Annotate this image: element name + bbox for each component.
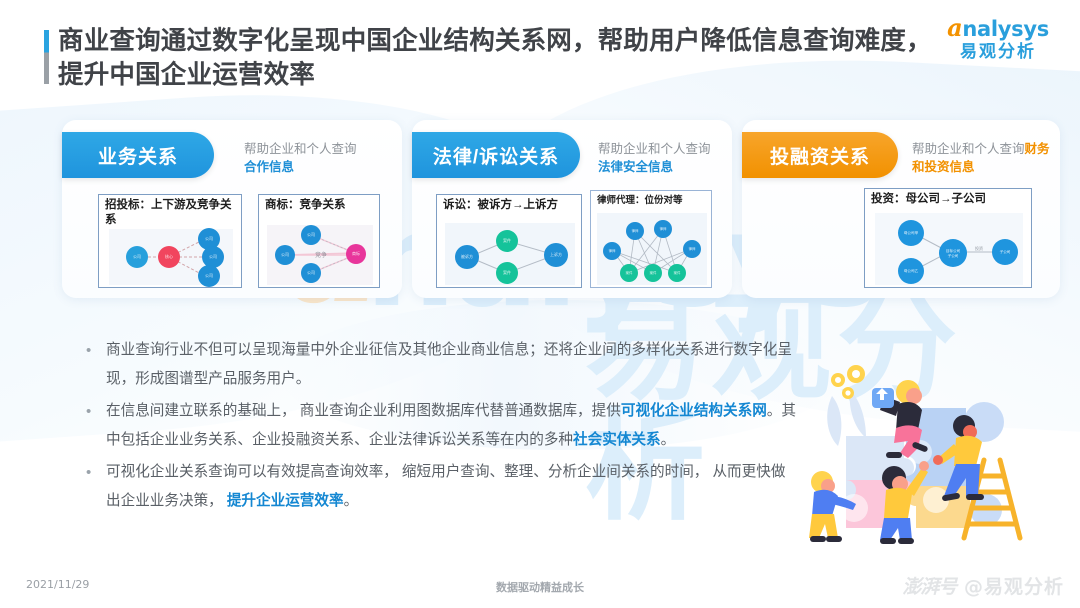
- logo-swirl-a-icon: a: [947, 13, 962, 42]
- svg-text:公司: 公司: [209, 254, 217, 259]
- diagram-label: 商标：竞争关系: [265, 198, 375, 213]
- slide-root: a nalysys 易观分析 商业查询通过数字化呈现中国企业结构关系网，帮助用户…: [0, 0, 1080, 608]
- group-caption-legal: 帮助企业和个人查询 法律安全信息: [598, 140, 738, 176]
- logo-cn-text: 易观分析: [938, 41, 1058, 63]
- svg-text:投资: 投资: [975, 245, 983, 251]
- bullet-text: 可视化企业关系查询可以有效提高查询效率， 缩短用户查询、整理、分析企业间关系的时…: [106, 464, 785, 509]
- bullet-marker: •: [86, 397, 91, 426]
- svg-text:案件: 案件: [626, 270, 633, 275]
- bullet-item: • 可视化企业关系查询可以有效提高查询效率， 缩短用户查询、整理、分析企业间关系…: [80, 458, 800, 516]
- bullet-list: • 商业查询行业不但可以呈现海量中外企业征信及其他企业商业信息；还将企业间的多样…: [80, 336, 800, 519]
- diagram-trademark-competition[interactable]: 商标：竞争关系: [258, 194, 380, 288]
- bullet-marker: •: [86, 336, 91, 365]
- bullet-text: 在信息间建立联系的基础上， 商业查询企业利用图数据库代替普通数据库，提供可视化企…: [106, 403, 796, 448]
- title-accent-bar: [44, 30, 49, 84]
- caption-bold: 合作信息: [244, 160, 294, 174]
- svg-text:律师: 律师: [632, 228, 639, 233]
- bullet-item: • 在信息间建立联系的基础上， 商业查询企业利用图数据库代替普通数据库，提供可视…: [80, 397, 800, 455]
- svg-text:公司: 公司: [281, 252, 289, 257]
- diagram-investment-parent-subsidiary[interactable]: 投资：母公司→子公司 母公司甲 母公司乙 目标公司子公司: [864, 188, 1032, 288]
- analysys-logo: analysys 易观分析: [938, 16, 1058, 78]
- svg-text:公司: 公司: [307, 270, 315, 275]
- svg-text:案件: 案件: [503, 237, 511, 243]
- illustration-svg: [788, 360, 1076, 570]
- teamwork-puzzle-illustration: [788, 360, 1076, 570]
- diagram-label: 招投标：上下游及竞争关系: [105, 198, 237, 228]
- svg-text:案件: 案件: [503, 269, 511, 275]
- caption-plain: 帮助企业和个人查询: [244, 142, 357, 156]
- diagram-label: 律师代理：位份对等: [597, 194, 707, 207]
- svg-text:母公司乙: 母公司乙: [904, 268, 919, 273]
- group-badge-business[interactable]: 业务关系: [62, 132, 214, 178]
- group-badge-investment[interactable]: 投融资关系: [742, 132, 898, 178]
- bullet-item: • 商业查询行业不但可以呈现海量中外企业征信及其他企业商业信息；还将企业间的多样…: [80, 336, 800, 394]
- svg-text:公司: 公司: [205, 236, 213, 241]
- group-badge-legal[interactable]: 法律/诉讼关系: [412, 132, 580, 178]
- caption-plain: 帮助企业和个人查询: [598, 142, 711, 156]
- logo-en-rest: nalysys: [962, 17, 1049, 41]
- svg-text:公司: 公司: [307, 232, 315, 237]
- svg-text:律师: 律师: [609, 248, 616, 253]
- relationship-groups: 业务关系 帮助企业和个人查询 合作信息 招投标：上下游及竞争关系: [0, 120, 1080, 310]
- caption-plain: 帮助企业和个人查询: [912, 142, 1025, 156]
- footer-watermark-brand: 澎湃号: [902, 576, 956, 598]
- diagram-lawyer-agency[interactable]: 律师代理：位份对等: [590, 190, 712, 288]
- svg-text:被诉方: 被诉方: [461, 253, 473, 259]
- svg-text:子公司: 子公司: [1000, 249, 1011, 254]
- page-title: 商业查询通过数字化呈现中国企业结构关系网，帮助用户降低信息查询难度， 提升中国企…: [58, 24, 938, 92]
- svg-text:核心: 核心: [165, 253, 173, 259]
- svg-text:律师: 律师: [660, 226, 667, 231]
- svg-text:竞争: 竞争: [315, 251, 327, 259]
- diagram-bidding-relations[interactable]: 招投标：上下游及竞争关系 公司核心: [98, 194, 242, 288]
- bullet-text: 商业查询行业不但可以呈现海量中外企业征信及其他企业商业信息；还将企业间的多样化关…: [106, 342, 792, 387]
- group-caption-business: 帮助企业和个人查询 合作信息: [244, 140, 394, 176]
- svg-text:母公司甲: 母公司甲: [904, 230, 919, 235]
- slide-footer: 2021/11/29 数据驱动精益成长 澎湃号 @易观分析: [0, 568, 1080, 608]
- logo-en-text: analysys: [938, 16, 1058, 41]
- footer-watermark-account: @易观分析: [964, 576, 1064, 598]
- svg-text:上诉方: 上诉方: [550, 251, 562, 257]
- bullet-marker: •: [86, 458, 91, 487]
- svg-text:公司: 公司: [133, 254, 141, 259]
- bullet-highlight: 提升企业运营效率: [223, 493, 344, 509]
- caption-bold: 法律安全信息: [598, 160, 673, 174]
- svg-text:商标: 商标: [352, 250, 360, 256]
- footer-watermark: 澎湃号 @易观分析: [902, 572, 1064, 599]
- svg-text:子公司: 子公司: [948, 253, 959, 258]
- svg-text:案件: 案件: [650, 270, 657, 275]
- svg-text:律师: 律师: [689, 246, 696, 251]
- svg-text:目标公司: 目标公司: [946, 248, 961, 253]
- diagram-label: 诉讼：被诉方→上诉方: [443, 198, 577, 213]
- diagram-label: 投资：母公司→子公司: [871, 192, 1027, 207]
- group-caption-investment: 帮助企业和个人查询财务和投资信息: [912, 140, 1062, 176]
- bullet-highlight: 社会实体关系: [573, 432, 661, 448]
- slide-header: 商业查询通过数字化呈现中国企业结构关系网，帮助用户降低信息查询难度， 提升中国企…: [0, 0, 1080, 110]
- diagram-litigation-parties[interactable]: 诉讼：被诉方→上诉方 被诉方案件 案件上诉方: [436, 194, 582, 288]
- svg-text:公司: 公司: [205, 273, 213, 278]
- svg-text:案件: 案件: [674, 270, 681, 275]
- bullet-highlight: 可视化企业结构关系网: [621, 403, 767, 419]
